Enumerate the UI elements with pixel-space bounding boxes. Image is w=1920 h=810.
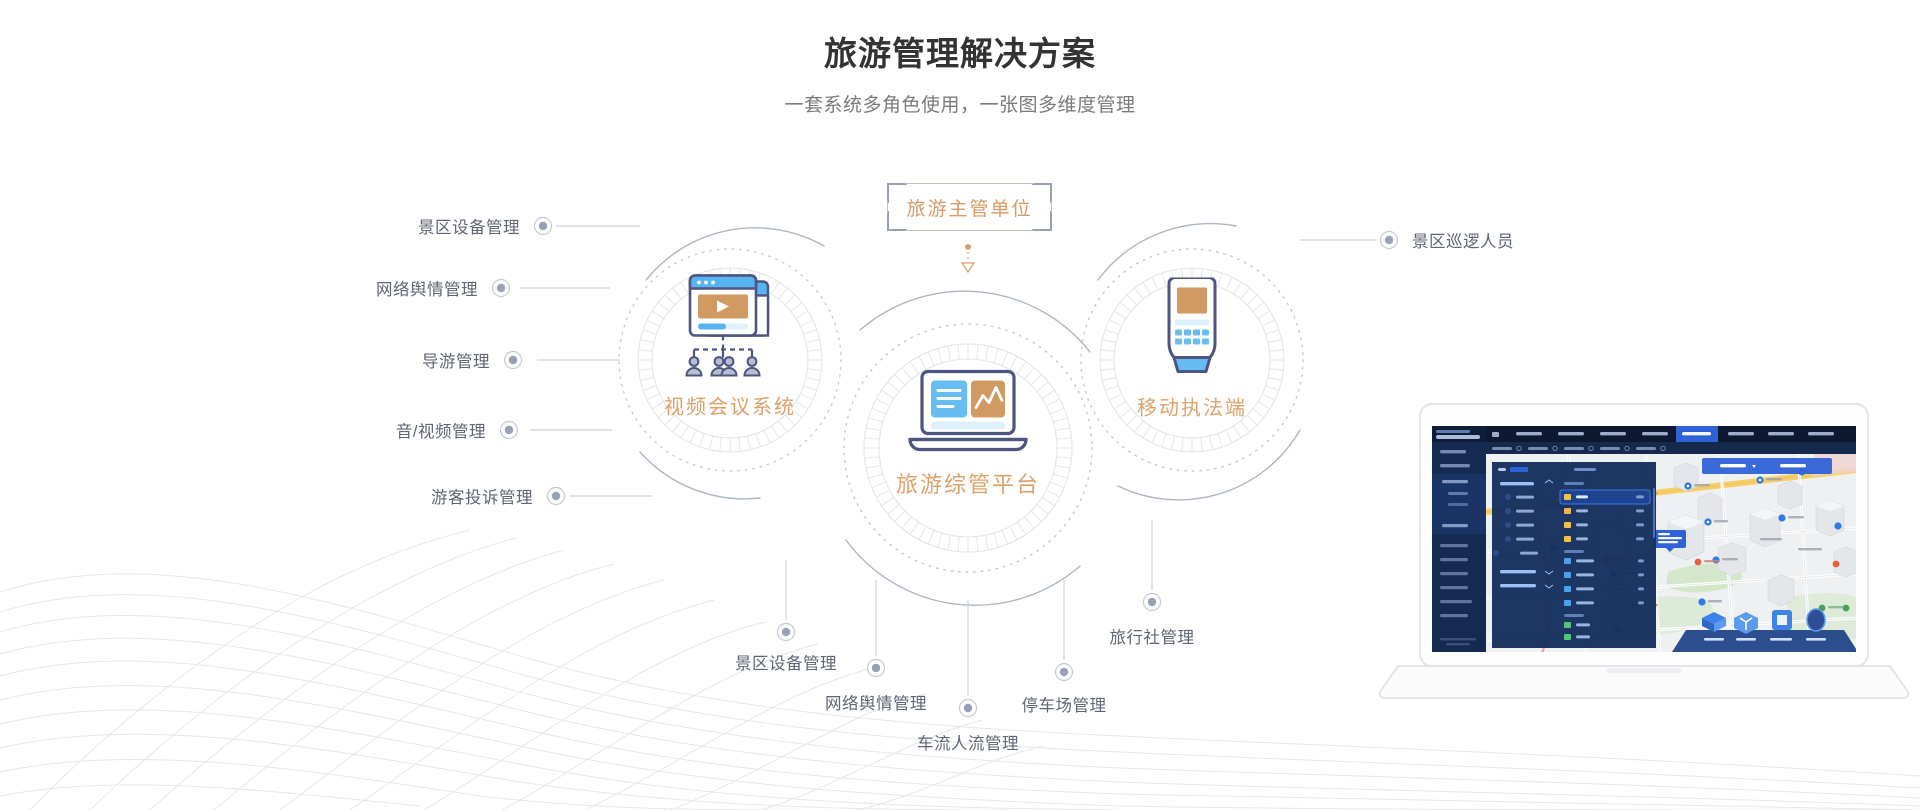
laptop-dashboard-icon	[904, 368, 1032, 469]
corner-bottom-right	[1032, 211, 1052, 231]
authority-box: 旅游主管单位	[887, 183, 1052, 231]
hub-caption-video-conference: 视频会议系统	[664, 391, 796, 420]
corner-top-right	[1032, 183, 1052, 203]
left-node-dots	[493, 218, 565, 505]
node-label-bottom-4[interactable]: 旅行社管理	[1110, 624, 1195, 648]
box-edge-left	[887, 201, 888, 213]
box-edge-bottom	[905, 230, 1034, 231]
handheld-terminal-icon	[1155, 278, 1229, 387]
node-label-left-1[interactable]: 网络舆情管理	[376, 276, 478, 300]
node-label-bottom-3[interactable]: 停车场管理	[1022, 692, 1107, 716]
node-label-bottom-1[interactable]: 网络舆情管理	[825, 690, 927, 714]
laptop-mockup	[1368, 402, 1920, 702]
corner-bottom-left	[887, 211, 907, 231]
solution-diagram-page: 旅游管理解决方案 一套系统多角色使用，一张图多维度管理	[0, 0, 1920, 810]
box-edge-right	[1051, 201, 1052, 213]
node-label-left-3[interactable]: 音/视频管理	[396, 418, 486, 442]
authority-label: 旅游主管单位	[906, 194, 1032, 221]
video-window-icon	[676, 274, 784, 391]
hub-caption-tourism-platform: 旅游综管平台	[896, 467, 1040, 499]
node-label-left-0[interactable]: 景区设备管理	[418, 214, 520, 238]
node-label-left-2[interactable]: 导游管理	[422, 348, 490, 372]
hub-caption-mobile-enforcement: 移动执法端	[1137, 392, 1247, 421]
node-label-right-0[interactable]: 景区巡逻人员	[1412, 228, 1514, 252]
node-label-left-4[interactable]: 游客投诉管理	[431, 484, 533, 508]
node-label-bottom-0[interactable]: 景区设备管理	[735, 650, 837, 674]
corner-top-left	[887, 183, 907, 203]
node-label-bottom-2[interactable]: 车流人流管理	[917, 730, 1019, 754]
box-edge-top	[905, 183, 1034, 184]
